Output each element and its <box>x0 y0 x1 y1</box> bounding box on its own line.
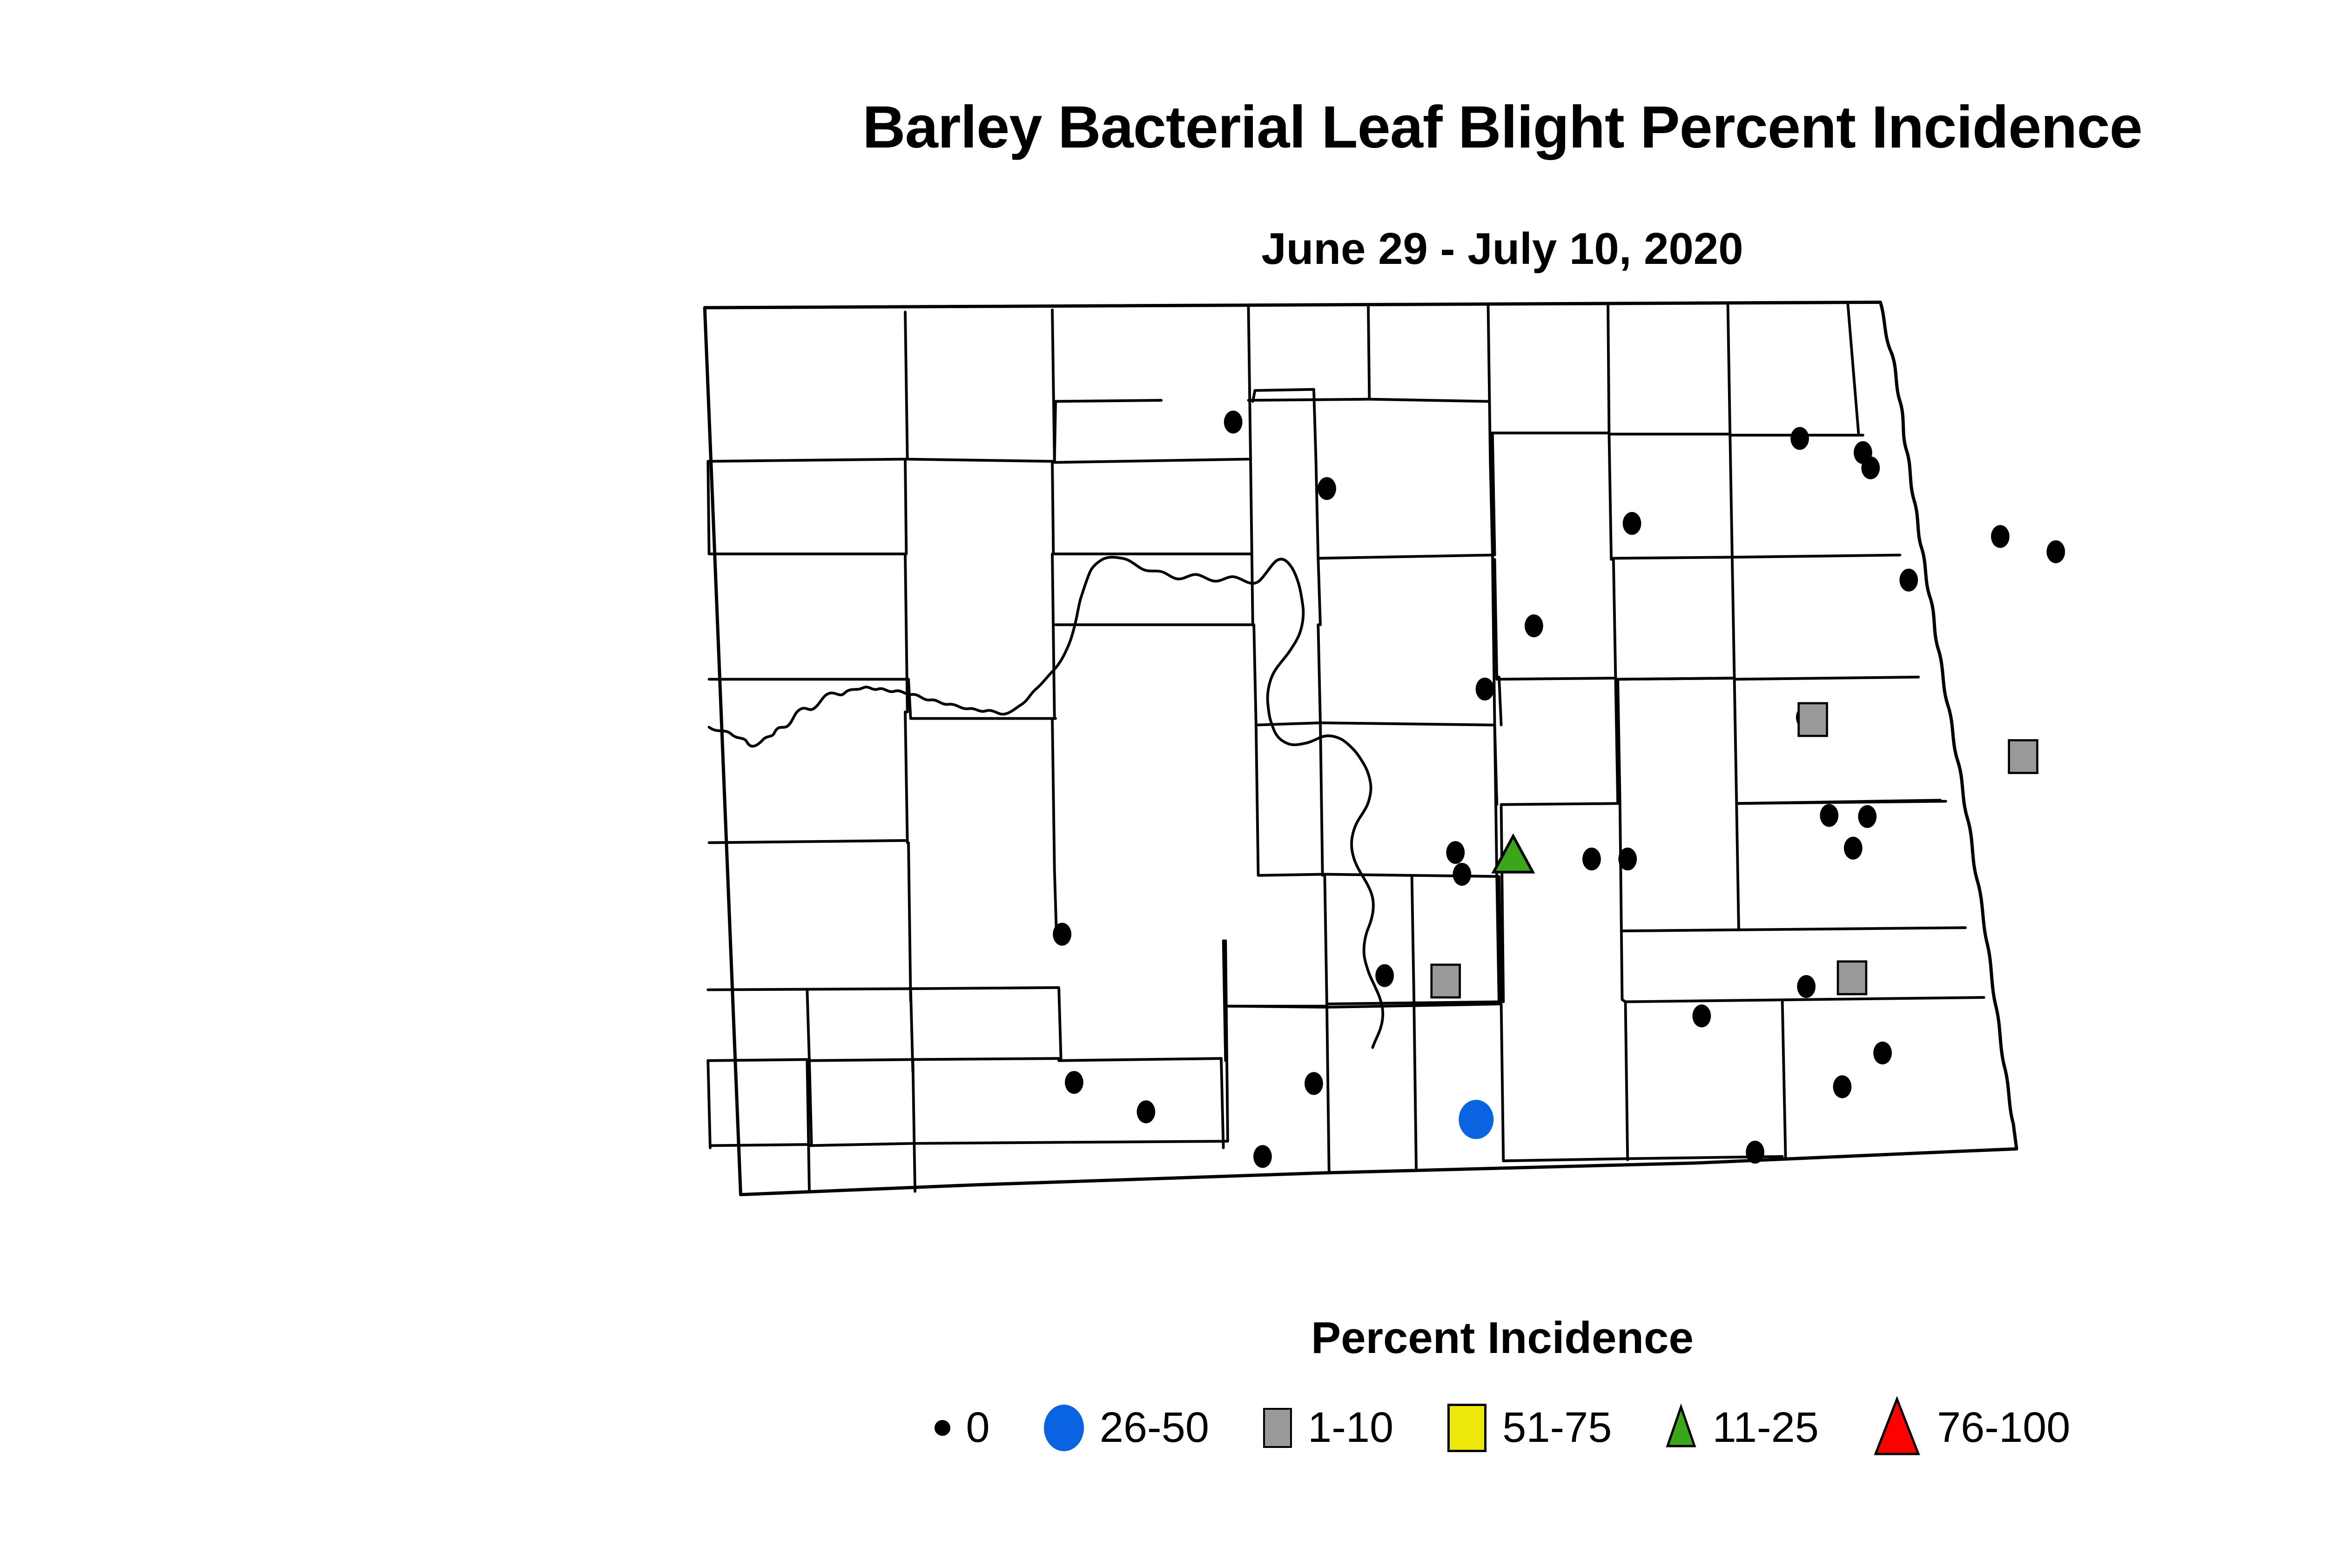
legend-label-11-25: 11-25 <box>1712 1403 1818 1452</box>
div-adams-n <box>809 1144 913 1146</box>
div-billings-n <box>708 989 910 989</box>
marker-dot <box>2046 540 2065 563</box>
legend-item-51-75[interactable]: 51-75 <box>1447 1403 1612 1452</box>
marker-dot <box>1746 1141 1764 1164</box>
div-burke-ward <box>1248 307 1251 461</box>
markers-class-11-25 <box>1493 836 1533 872</box>
div-lamoure-e <box>1501 1004 1504 1161</box>
div-gv-e <box>807 990 809 1061</box>
marker-dot <box>1844 837 1863 860</box>
div-mcintosh-n <box>1229 1006 1327 1007</box>
div-row2-top <box>1055 400 1161 461</box>
div-dunn-s <box>911 988 1058 989</box>
marker-dot <box>1375 964 1394 987</box>
div-walsh-e <box>1735 677 1919 680</box>
div-n-row1-a <box>905 312 908 459</box>
legend-item-76-100[interactable]: 76-100 <box>1873 1396 2070 1459</box>
div-morton-w <box>1059 988 1061 1061</box>
legend-item-1-10[interactable]: 1-10 <box>1263 1403 1393 1452</box>
marker-dot <box>1253 1145 1272 1168</box>
div-renville <box>1368 305 1369 399</box>
marker-dot <box>1305 1072 1323 1095</box>
marker-dot <box>1790 427 1809 450</box>
div-slope-s <box>710 1144 807 1145</box>
div-mountrail-w <box>905 554 908 712</box>
legend-title: Percent Incidence <box>0 1312 2327 1364</box>
div-dunn-n <box>908 843 911 1001</box>
div-burleigh-n <box>1256 725 1258 875</box>
div-walsh-w <box>1732 555 1900 558</box>
div-mcintosh-e <box>1327 1007 1329 1172</box>
div-cass-s <box>1622 997 1984 1002</box>
div-stark-s <box>913 1058 1059 1059</box>
marker-dot <box>1873 1042 1892 1064</box>
green-triangle-icon <box>1666 1403 1696 1452</box>
marker-square <box>2009 740 2038 773</box>
div-ransom-e <box>1626 1002 1628 1159</box>
div-griggs-w <box>1499 677 1501 725</box>
div-billings-s <box>809 1059 913 1060</box>
marker-dot <box>1065 1071 1083 1094</box>
div-sheridan-w <box>1254 625 1256 725</box>
div-dickey-w <box>1414 1006 1416 1169</box>
marker-circle <box>1459 1100 1493 1139</box>
marker-dot <box>1453 863 1471 886</box>
div-sheridan-s <box>1256 723 1320 725</box>
marker-dot <box>1991 525 2010 548</box>
date-range-subtitle: June 29 - July 10, 2020 <box>0 223 2327 275</box>
div-west-v1 <box>709 841 905 843</box>
div-n-mid-h1 <box>905 459 906 554</box>
marker-dot <box>1693 1004 1711 1027</box>
div-ransom-s <box>1503 1159 1625 1161</box>
div-nelson-gf <box>1619 678 1734 679</box>
marker-dot <box>1858 805 1876 828</box>
div-walsh-s <box>1732 559 1735 680</box>
div-eddy-s <box>1497 678 1614 679</box>
div-topband-h <box>1055 459 1249 462</box>
div-pierce-s <box>1318 555 1493 559</box>
marker-dot <box>1053 923 1071 946</box>
div-nelson-w <box>1614 559 1616 680</box>
legend-label-0: 0 <box>966 1403 990 1452</box>
markers-class-0 <box>1053 411 2065 1168</box>
div-grant-s <box>915 1142 1061 1143</box>
legend-item-26-50[interactable]: 26-50 <box>1044 1403 1209 1452</box>
div-grant-e <box>1221 1058 1224 1148</box>
marker-square <box>1838 962 1866 994</box>
div-ward-s2 <box>1052 554 1055 719</box>
marker-square <box>1799 703 1827 736</box>
div-grant-n <box>1059 1058 1221 1061</box>
county-boundaries <box>705 302 2017 1194</box>
div-ramsey-w <box>1609 434 1611 559</box>
marker-dot <box>1623 512 1641 535</box>
div-emmons-w <box>1225 941 1228 1141</box>
legend-label-76-100: 76-100 <box>1937 1403 2070 1452</box>
marker-triangle <box>1493 836 1533 872</box>
div-richland-w <box>1782 1001 1786 1158</box>
div-gf-w <box>1735 679 1737 803</box>
north-dakota-county-map <box>540 298 2197 1224</box>
marker-dot <box>1137 1100 1156 1123</box>
black-dot-icon <box>935 1420 950 1436</box>
div-divide-n1 <box>708 459 905 461</box>
div-mercer-n <box>1052 719 1055 870</box>
legend-label-51-75: 51-75 <box>1502 1403 1612 1452</box>
marker-dot <box>1618 848 1637 870</box>
yellow-square-icon <box>1447 1404 1486 1452</box>
red-triangle-icon <box>1873 1396 1921 1459</box>
marker-dot <box>1582 848 1601 870</box>
blue-circle-icon <box>1044 1405 1084 1451</box>
div-wells-w <box>1318 625 1320 723</box>
gray-square-icon <box>1263 1408 1292 1448</box>
legend-item-0[interactable]: 0 <box>935 1403 990 1452</box>
div-mountrail-s <box>709 679 911 718</box>
marker-dot <box>1861 457 1880 479</box>
div-hettinger-e <box>913 1059 915 1191</box>
div-ramsey-e <box>1730 434 1732 559</box>
div-renville-s <box>1248 399 1369 400</box>
legend-label-1-10: 1-10 <box>1308 1403 1393 1452</box>
marker-square <box>1432 965 1460 997</box>
div-bottineau-s <box>1369 399 1488 402</box>
marker-dot <box>1797 975 1816 998</box>
marker-dot <box>1318 477 1336 500</box>
div-wells-s <box>1320 723 1495 725</box>
div-row1-bot <box>905 459 1052 461</box>
div-mckenzie-e <box>905 712 908 843</box>
div-sioux-n <box>1061 1141 1227 1142</box>
div-mchenry-e <box>1316 461 1318 559</box>
marker-dot <box>1899 569 1918 592</box>
div-n2-h <box>708 461 709 554</box>
div-ward-mchenry <box>1251 461 1253 625</box>
div-gv-s <box>708 1059 807 1060</box>
div-bottineau-e <box>1488 304 1491 461</box>
div-logan-e <box>1412 876 1414 1004</box>
legend-item-11-25[interactable]: 11-25 <box>1666 1403 1818 1452</box>
legend: 0 26-50 1-10 51-75 11-25 <box>0 1396 2327 1459</box>
marker-dot <box>1820 804 1838 827</box>
div-ramsey-s <box>1611 557 1730 558</box>
marker-dot <box>1833 1075 1852 1098</box>
legend-label-26-50: 26-50 <box>1100 1403 1209 1452</box>
div-n-row2-a <box>1052 461 1053 554</box>
div-towner <box>1728 303 1730 434</box>
figure-canvas: Barley Bacterial Leaf Blight Percent Inc… <box>0 0 2327 1568</box>
div-slope-n <box>708 1061 710 1148</box>
map-svg <box>540 298 2197 1224</box>
div-cavalier <box>1848 302 1858 434</box>
div-wells-n <box>1318 559 1320 625</box>
page-title: Barley Bacterial Leaf Blight Percent Inc… <box>0 93 2327 162</box>
div-emmons-n <box>1259 874 1325 875</box>
div-traill-w <box>1736 805 1739 930</box>
marker-dot <box>1476 678 1494 700</box>
marker-dot <box>1446 841 1465 864</box>
marker-dot <box>1525 614 1543 637</box>
div-griggs-s <box>1501 803 1619 804</box>
marker-dot <box>1224 411 1243 433</box>
div-rolette <box>1608 303 1609 434</box>
div-cass-w <box>1620 805 1622 1000</box>
markers-class-26-50 <box>1459 1100 1493 1139</box>
div-traill-s <box>1622 928 1965 931</box>
div-kidder-w <box>1320 723 1323 875</box>
survey-point-markers <box>1053 411 2065 1168</box>
div-emmons-e <box>1325 874 1327 1006</box>
